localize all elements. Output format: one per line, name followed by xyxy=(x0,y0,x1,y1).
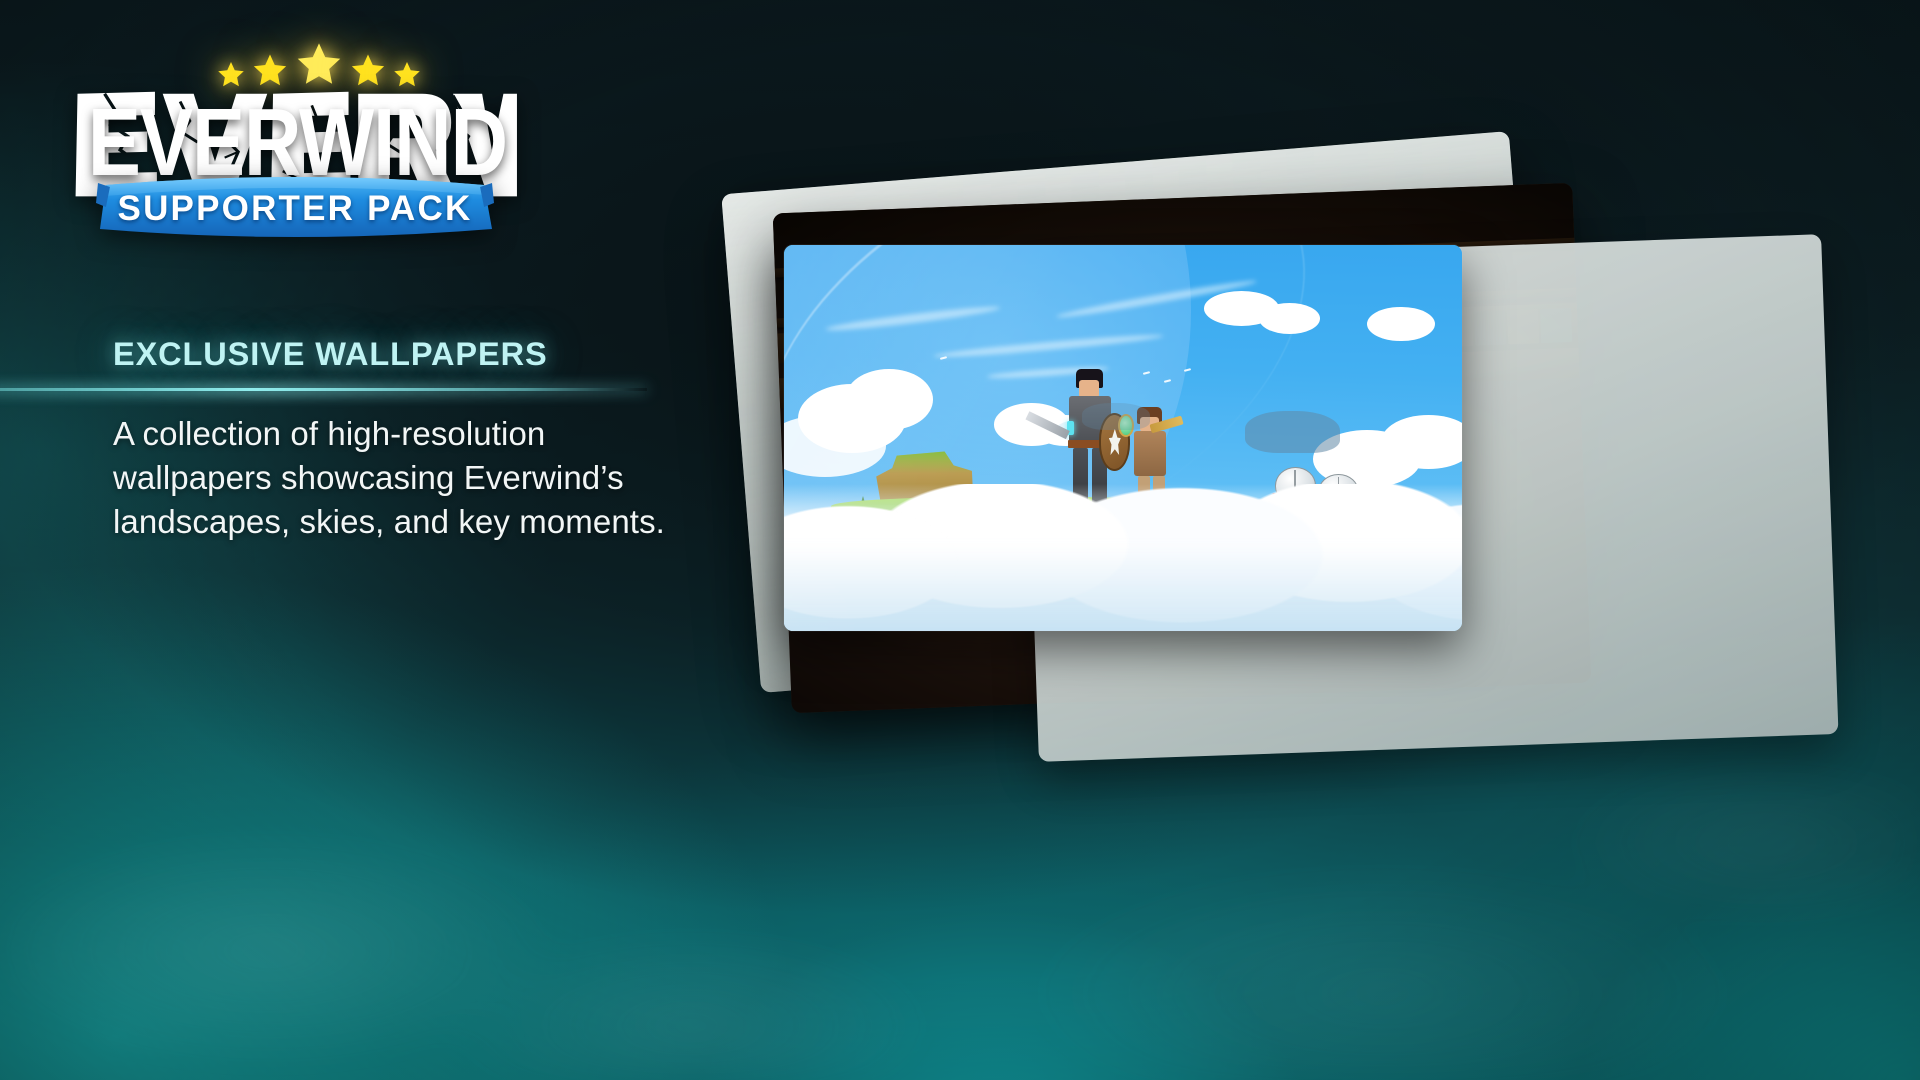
wallpaper-card-stack xyxy=(700,120,1880,760)
feature-description: A collection of high-resolution wallpape… xyxy=(113,412,733,544)
feature-description-line-1: A collection of high-resolution xyxy=(113,412,733,456)
feature-description-line-2: wallpapers showcasing Everwind’s xyxy=(113,456,733,500)
cloud xyxy=(1259,303,1320,334)
knight-head xyxy=(1079,380,1099,398)
floating-rock xyxy=(1245,411,1340,453)
brand-logo-block: EVERWIND xyxy=(62,34,532,241)
wallpaper-card-featured[interactable] xyxy=(784,245,1462,631)
divider-glow xyxy=(0,382,647,398)
feature-title: EXCLUSIVE WALLPAPERS xyxy=(113,336,733,373)
scout-tunic xyxy=(1134,431,1167,476)
feature-block: EXCLUSIVE WALLPAPERS A collection of hig… xyxy=(113,336,733,373)
cloud xyxy=(1367,307,1435,342)
feature-divider xyxy=(0,388,647,394)
sky-vista-scene xyxy=(784,245,1462,631)
left-content-panel: EVERWIND xyxy=(0,0,760,1080)
floating-rock xyxy=(1082,403,1150,430)
promo-stage: EVERWIND xyxy=(0,0,1920,1080)
feature-description-line-3: landscapes, skies, and key moments. xyxy=(113,500,733,544)
ribbon-label: SUPPORTER PACK xyxy=(96,172,494,246)
supporter-pack-ribbon: SUPPORTER PACK xyxy=(96,167,494,241)
cloud-bank-shadow xyxy=(784,546,1462,631)
